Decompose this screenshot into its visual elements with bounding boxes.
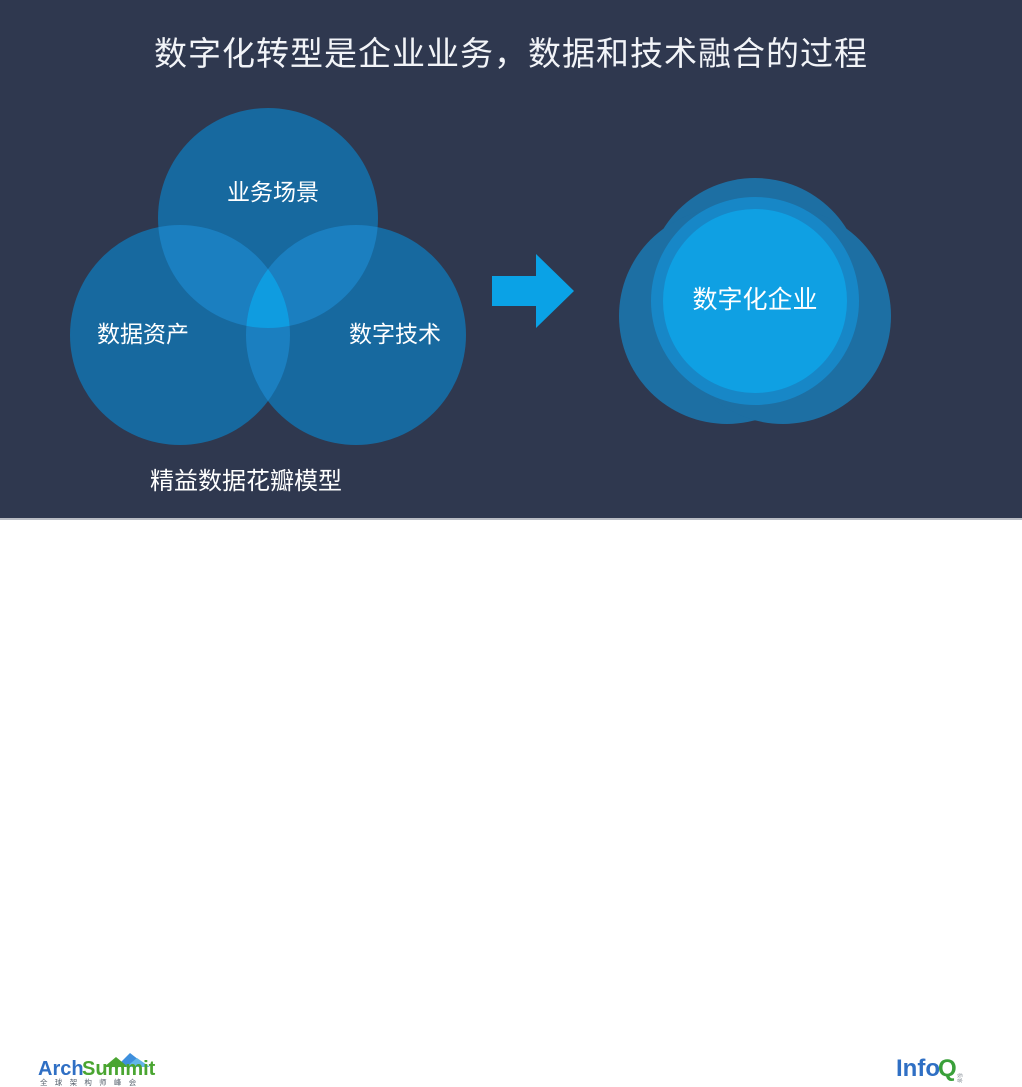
page-title: 数字化转型是企业业务，数据和技术融合的过程: [0, 32, 1022, 76]
result-label: 数字化企业: [612, 284, 898, 316]
venn-label-technology: 数字技术: [320, 320, 470, 348]
infoq-q-text: Q: [938, 1055, 957, 1082]
venn-diagram: 业务场景 数据资产 数字技术: [70, 108, 470, 453]
footer: Arch Summit 全 球 架 构 师 峰 会 Info Q 极客邦: [0, 520, 1022, 574]
archsummit-tagline: 全 球 架 构 师 峰 会: [40, 1077, 139, 1087]
infoq-sub-text: 极客邦: [956, 1073, 963, 1083]
venn-label-data: 数据资产: [68, 320, 218, 348]
archsummit-arch-text: Arch: [38, 1058, 84, 1080]
venn-label-business: 业务场景: [198, 178, 348, 206]
infoq-logo: Info Q 极客邦: [896, 1053, 1001, 1083]
slide: 数字化转型是企业业务，数据和技术融合的过程: [0, 0, 1022, 574]
archsummit-summit-text: Summit: [82, 1058, 156, 1080]
arrow-right-icon: [492, 252, 574, 330]
infoq-info-text: Info: [896, 1055, 940, 1082]
venn-caption: 精益数据花瓣模型: [150, 466, 342, 498]
slide-canvas: 数字化转型是企业业务，数据和技术融合的过程: [0, 0, 1022, 518]
archsummit-logo: Arch Summit 全 球 架 构 师 峰 会: [38, 1051, 168, 1087]
result-circle-group: 数字化企业: [612, 178, 898, 424]
